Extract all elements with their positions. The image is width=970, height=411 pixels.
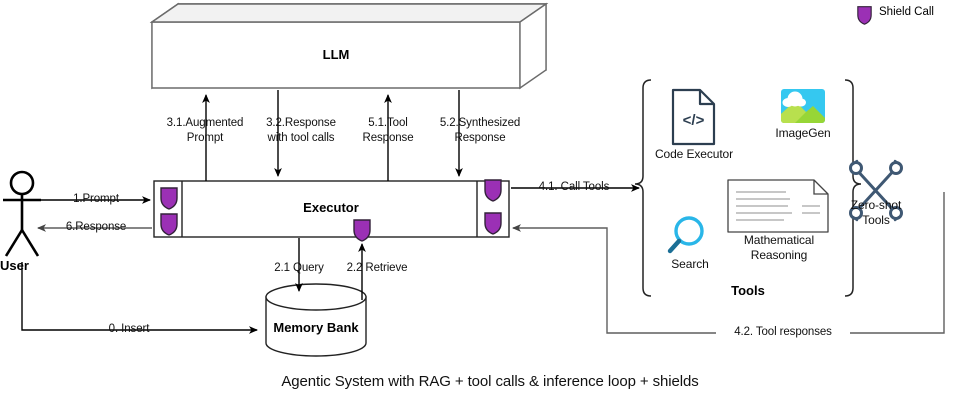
tool-label-code-executor[interactable]: Code Executor [645, 147, 743, 161]
edge-label-prompt: 1.Prompt [48, 192, 144, 206]
shield-executor-out-bottom[interactable] [483, 211, 503, 235]
edge-label-response: 6.Response [44, 220, 148, 234]
shield-executor-in-top[interactable] [159, 186, 179, 210]
tool-label-search[interactable]: Search [660, 257, 720, 271]
magnifier-icon[interactable] [670, 218, 702, 251]
edge-label-call-tools: 4.1. Call Tools [518, 180, 630, 194]
legend-label: Shield Call [879, 6, 934, 18]
shield-executor-memory[interactable] [352, 218, 372, 242]
memory-bank-label: Memory Bank [256, 320, 376, 335]
user-actor[interactable] [3, 172, 41, 256]
edge-label-synthesized-response: 5.2.Synthesized Response [404, 116, 556, 146]
edge-label-retrieve: 2.2 Retrieve [331, 261, 423, 275]
edge-label-tool-responses: 4.2. Tool responses [716, 325, 850, 339]
diagram-canvas: </> [0, 0, 970, 411]
executor-label: Executor [271, 200, 391, 215]
imagegen-icon[interactable] [781, 89, 825, 123]
shield-executor-out-top[interactable] [483, 178, 503, 202]
tool-label-mathematical-reasoning[interactable]: Mathematical Reasoning [733, 233, 825, 263]
edge-insert-line [22, 262, 257, 330]
user-label: User [0, 258, 46, 273]
tools-group-label: Tools [708, 283, 788, 298]
tool-label-imagegen[interactable]: ImageGen [758, 126, 848, 140]
formula-document-icon[interactable] [728, 180, 828, 232]
edge-label-query: 2.1 Query [258, 261, 340, 275]
diagram-svg: </> [0, 0, 970, 411]
shield-icon [856, 5, 873, 25]
edge-label-insert: 0. Insert [75, 322, 183, 336]
llm-node[interactable] [152, 4, 546, 88]
tool-label-zero-shot-tools[interactable]: Zero-shot Tools [838, 198, 914, 228]
code-executor-icon[interactable]: </> [673, 90, 714, 144]
llm-label: LLM [276, 47, 396, 62]
diagram-caption: Agentic System with RAG + tool calls & i… [185, 375, 795, 389]
svg-text:</>: </> [683, 112, 705, 129]
legend: Shield Call [856, 4, 966, 26]
shield-executor-in-bottom[interactable] [159, 212, 179, 236]
